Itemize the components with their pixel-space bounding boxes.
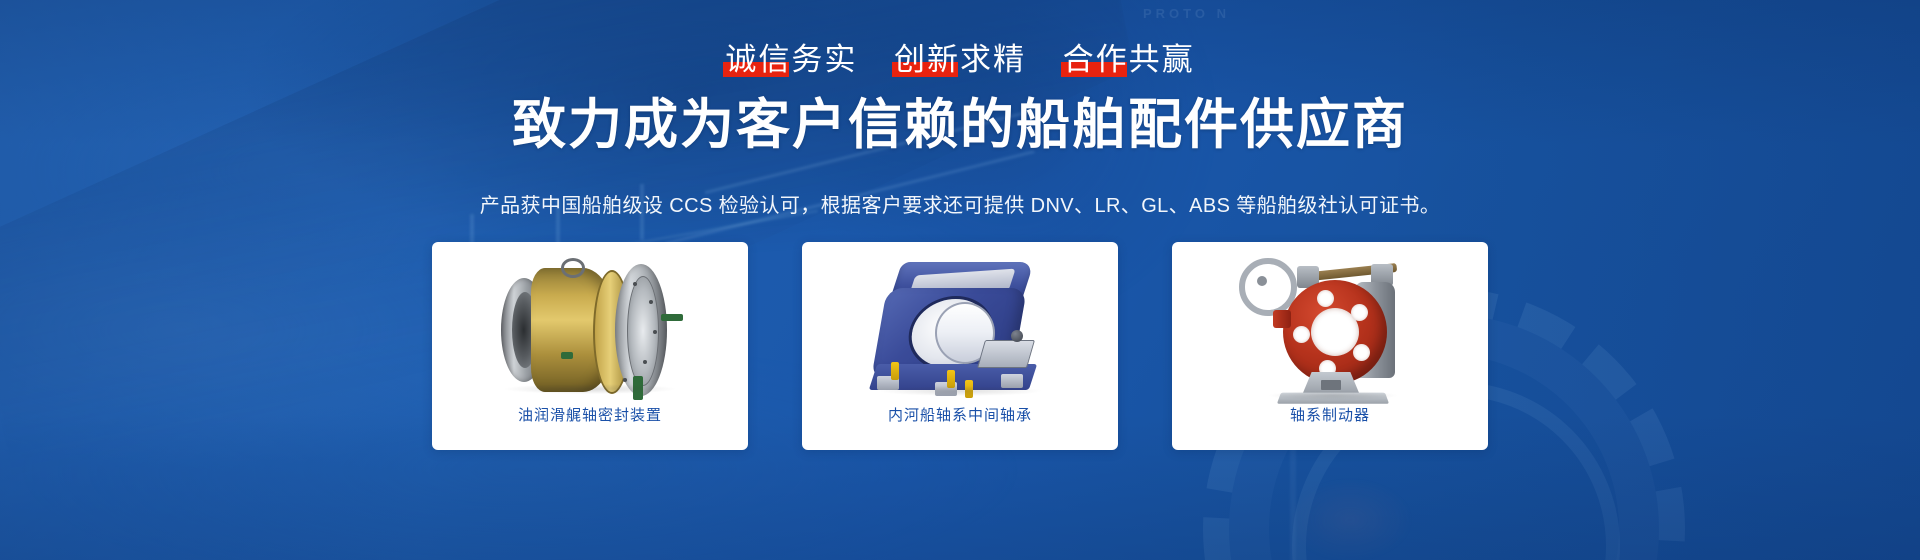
product-card-2[interactable]: 内河船轴系中间轴承 — [802, 242, 1118, 450]
oil-lubricated-stern-shaft-seal-illustration — [465, 252, 715, 402]
hero-banner: PROTO N 诚信务实 创新求精 合作共赢 致力成为客户信赖的船舶配件供应商 … — [0, 0, 1920, 560]
bearing-side-nameplate — [977, 340, 1035, 368]
seal-bolt-1 — [633, 282, 637, 286]
brake-disc-hole-3 — [1353, 344, 1370, 361]
brake-nameplate — [1321, 380, 1341, 390]
seal-lifting-lug — [561, 258, 585, 278]
seal-bolt-3 — [653, 330, 657, 334]
banner-slogan: 诚信务实 创新求精 合作共赢 — [0, 44, 1920, 75]
brake-drop-shadow — [1269, 391, 1397, 400]
product-caption-3: 轴系制动器 — [1290, 404, 1370, 425]
banner-headline: 致力成为客户信赖的船舶配件供应商 — [0, 95, 1920, 155]
brake-pad-arm-left — [1273, 310, 1291, 328]
inland-vessel-intermediate-bearing-illustration — [835, 252, 1085, 402]
slogan-phrase-3: 合作共赢 — [1061, 44, 1197, 75]
slogan-phrase-1-text: 诚信务实 — [725, 42, 857, 77]
bearing-drop-shadow — [881, 386, 1041, 396]
seal-bolt-2 — [649, 300, 653, 304]
product-card-3[interactable]: 轴系制动器 — [1172, 242, 1488, 450]
brake-disc-hole-2 — [1351, 304, 1368, 321]
product-image-1 — [465, 252, 715, 402]
product-caption-1: 油润滑艉轴密封装置 — [518, 404, 662, 425]
brake-disc-hole-5 — [1293, 326, 1310, 343]
product-card-1[interactable]: 油润滑艉轴密封装置 — [432, 242, 748, 450]
bearing-yellow-tag-1 — [891, 362, 899, 380]
seal-bolt-5 — [623, 378, 627, 382]
seal-green-key-top — [661, 314, 683, 321]
product-caption-2: 内河船轴系中间轴承 — [888, 404, 1032, 425]
seal-drop-shadow — [505, 384, 675, 394]
product-image-2 — [835, 252, 1085, 402]
slogan-phrase-2: 创新求精 — [892, 44, 1028, 75]
bearing-oil-plug-knob — [1011, 330, 1023, 342]
shafting-brake-illustration — [1205, 252, 1455, 402]
slogan-phrase-2-text: 创新求精 — [894, 42, 1026, 77]
brake-handwheel-hub — [1257, 276, 1267, 286]
brake-disc-hole-1 — [1317, 290, 1334, 307]
product-card-list: 油润滑艉轴密封装置 — [0, 242, 1920, 450]
product-image-3 — [1205, 252, 1455, 402]
slogan-phrase-1: 诚信务实 — [723, 44, 859, 75]
banner-subheading: 产品获中国船舶级设 CCS 检验认可，根据客户要求还可提供 DNV、LR、GL、… — [0, 192, 1920, 220]
seal-bolt-4 — [643, 360, 647, 364]
banner-content: 诚信务实 创新求精 合作共赢 致力成为客户信赖的船舶配件供应商 产品获中国船舶级… — [0, 44, 1920, 450]
slogan-phrase-3-text: 合作共赢 — [1063, 42, 1195, 77]
seal-green-bracket-left — [561, 352, 573, 359]
